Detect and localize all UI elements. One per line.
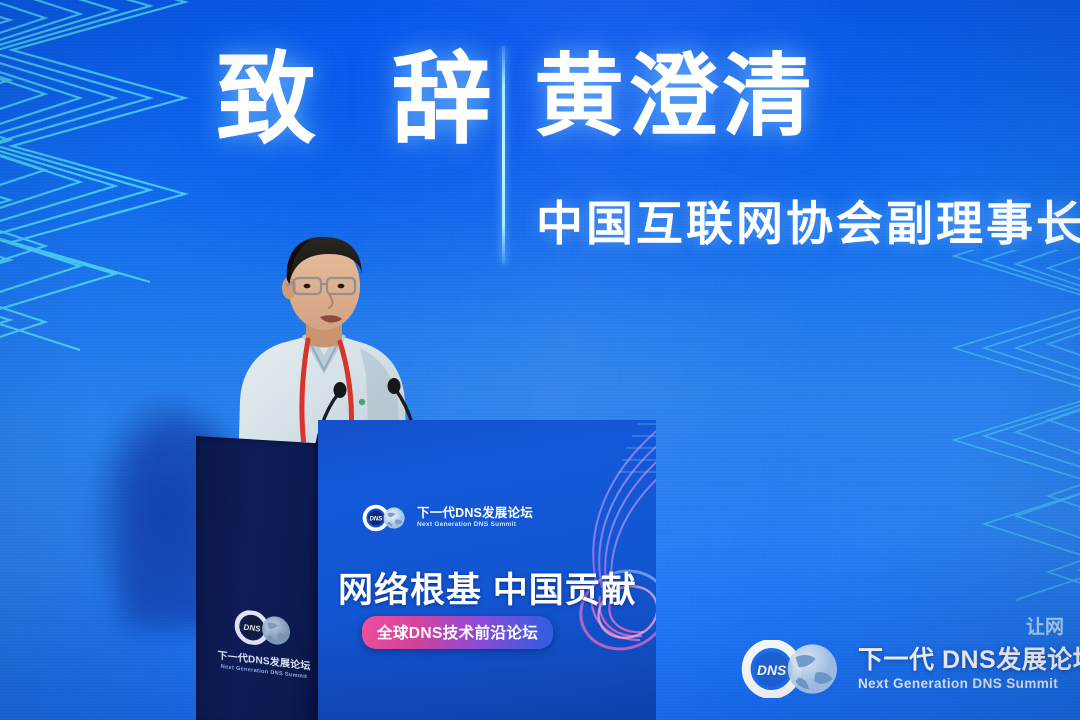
podium-side-logo: DNS 下一代DNS发展论坛 Next Generation DNS Summi…: [218, 607, 310, 681]
title-divider: [502, 46, 505, 264]
podium-badge: 全球DNS技术前沿论坛: [362, 616, 553, 649]
speaker-role: 中国互联网协会副理事长: [536, 200, 1080, 247]
microphone-head-right: [388, 378, 401, 394]
podium-logo-cn: 下一代DNS发展论坛: [417, 507, 533, 520]
podium: DNS 下一代DNS发展论坛 Next Generation DNS Summi…: [196, 410, 656, 720]
clipped-edge-text: 让网: [1026, 612, 1064, 639]
svg-text:DNS: DNS: [370, 516, 383, 522]
event-watermark: DNS 下一代 DNS发展论坛 Next Generation DNS Summ…: [736, 640, 1080, 698]
conference-photo-stage: 致 辞 黄澄清 中国互联网协会副理事长: [0, 0, 1080, 720]
page-title: 致 辞: [216, 50, 516, 150]
svg-text:DNS: DNS: [757, 662, 787, 678]
podium-logo-lockup: DNS 下一代DNS发展论坛 Next Generation DNS Summi…: [360, 504, 533, 532]
dns-summit-logo-icon: DNS: [231, 608, 297, 650]
microphone-head-left: [334, 382, 347, 398]
dns-summit-logo-icon: DNS: [736, 640, 848, 698]
watermark-title-en: Next Generation DNS Summit: [858, 677, 1080, 691]
svg-text:DNS: DNS: [244, 623, 262, 634]
podium-logo-en: Next Generation DNS Summit: [417, 522, 533, 529]
speaker-name: 黄澄清: [534, 52, 816, 142]
podium-front-face: DNS 下一代DNS发展论坛 Next Generation DNS Summi…: [318, 420, 656, 720]
podium-left-face: DNS 下一代DNS发展论坛 Next Generation DNS Summi…: [196, 436, 319, 720]
podium-slogan: 网络根基 中国贡献: [338, 562, 637, 613]
watermark-title-cn: 下一代 DNS发展论坛: [858, 648, 1080, 673]
dns-summit-logo-icon: DNS: [360, 504, 410, 532]
